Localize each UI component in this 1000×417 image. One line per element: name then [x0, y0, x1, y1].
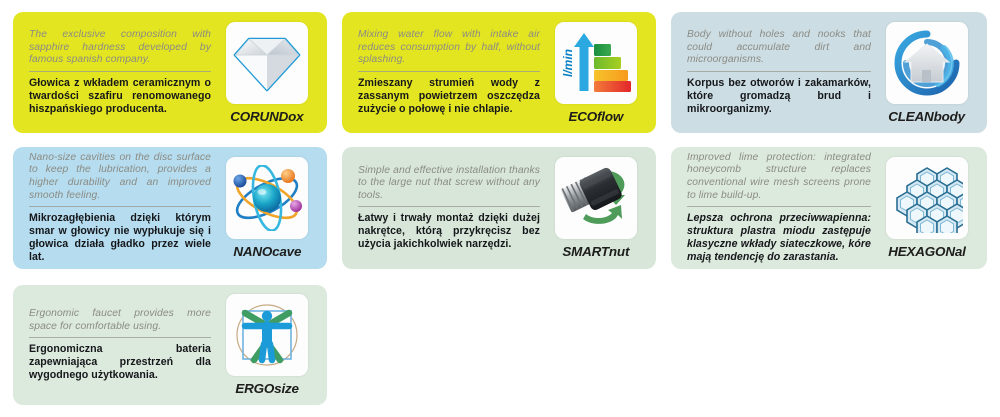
panel-text-pl: Korpus bez otworów i zakamarków, które g… — [687, 77, 871, 116]
brand-label: NANOcave — [233, 244, 301, 259]
diamond-icon — [233, 33, 301, 93]
icon-container — [886, 22, 968, 104]
divider — [29, 206, 211, 207]
panel-text-en: The exclusive composition with sapphire … — [29, 29, 211, 67]
icon-container — [226, 294, 308, 376]
panel-text-column: Improved lime protection: integrated hon… — [687, 152, 879, 264]
divider — [358, 206, 540, 207]
icon-container — [886, 157, 968, 239]
feature-panel-board: The exclusive composition with sapphire … — [0, 0, 1000, 417]
icon-container — [226, 157, 308, 239]
panel-text-pl: Głowica z wkładem ceramicznym o twardośc… — [29, 77, 211, 116]
brand-label: CLEANbody — [889, 109, 966, 124]
panel-ecoflow: Mixing water flow with intake air reduce… — [342, 12, 656, 133]
brand-label: CORUNDox — [230, 109, 303, 124]
panel-text-column: Nano-size cavities on the disc surface t… — [29, 152, 219, 264]
flow-bars-arrow-icon: l/min — [561, 31, 631, 95]
panel-cleanbody: Body without holes and nooks that could … — [671, 12, 987, 133]
brand-label: ECOflow — [569, 109, 624, 124]
panel-hexagonal: Improved lime protection: integrated hon… — [671, 147, 987, 269]
icon-container: l/min — [555, 22, 637, 104]
panel-text-column: The exclusive composition with sapphire … — [29, 29, 219, 116]
honeycomb-icon — [891, 163, 963, 233]
house-swirl-icon — [892, 30, 962, 96]
panel-text-column: Mixing water flow with intake air reduce… — [358, 29, 548, 116]
panel-text-column: Body without holes and nooks that could … — [687, 29, 879, 116]
panel-badge: l/min ECOflow — [548, 22, 644, 124]
icon-container — [226, 22, 308, 104]
panel-text-pl: Lepsza ochrona przeciwwapienna: struktur… — [687, 212, 871, 264]
panel-corundox: The exclusive composition with sapphire … — [13, 12, 327, 133]
panel-text-pl: Zmieszany strumień wody z zassanym powie… — [358, 77, 540, 116]
brand-label: HEXAGONal — [888, 244, 965, 259]
panel-badge: CORUNDox — [219, 22, 315, 124]
svg-text:l/min: l/min — [561, 48, 575, 76]
panel-text-en: Simple and effective installation thanks… — [358, 165, 540, 203]
divider — [687, 206, 871, 207]
panel-badge: NANOcave — [219, 157, 315, 259]
atom-icon — [231, 165, 303, 231]
panel-smartnut: Simple and effective installation thanks… — [342, 147, 656, 269]
panel-text-en: Mixing water flow with intake air reduce… — [358, 29, 540, 67]
panel-text-pl: Łatwy i trwały montaż dzięki dużej nakrę… — [358, 212, 540, 251]
divider — [687, 71, 871, 72]
vitruvian-man-icon — [232, 302, 302, 368]
panel-text-pl: Mikrozagłębienia dzięki którym smar w gł… — [29, 212, 211, 264]
threaded-nut-icon — [559, 165, 633, 231]
divider — [29, 337, 211, 338]
panel-badge: SMARTnut — [548, 157, 644, 259]
panel-text-en: Ergonomic faucet provides more space for… — [29, 308, 211, 333]
panel-badge: ERGOsize — [219, 294, 315, 396]
panel-text-en: Nano-size cavities on the disc surface t… — [29, 152, 211, 202]
brand-label: SMARTnut — [563, 244, 630, 259]
panel-nanocave: Nano-size cavities on the disc surface t… — [13, 147, 327, 269]
panel-ergosize: Ergonomic faucet provides more space for… — [13, 285, 327, 405]
panel-text-column: Ergonomic faucet provides more space for… — [29, 308, 219, 382]
brand-label: ERGOsize — [235, 381, 298, 396]
panel-badge: HEXAGONal — [879, 157, 975, 259]
divider — [358, 71, 540, 72]
icon-container — [555, 157, 637, 239]
panel-badge: CLEANbody — [879, 22, 975, 124]
panel-text-en: Improved lime protection: integrated hon… — [687, 152, 871, 202]
panel-text-column: Simple and effective installation thanks… — [358, 165, 548, 252]
panel-text-pl: Ergonomiczna bateria zapewniająca przest… — [29, 343, 211, 382]
divider — [29, 71, 211, 72]
panel-text-en: Body without holes and nooks that could … — [687, 29, 871, 67]
